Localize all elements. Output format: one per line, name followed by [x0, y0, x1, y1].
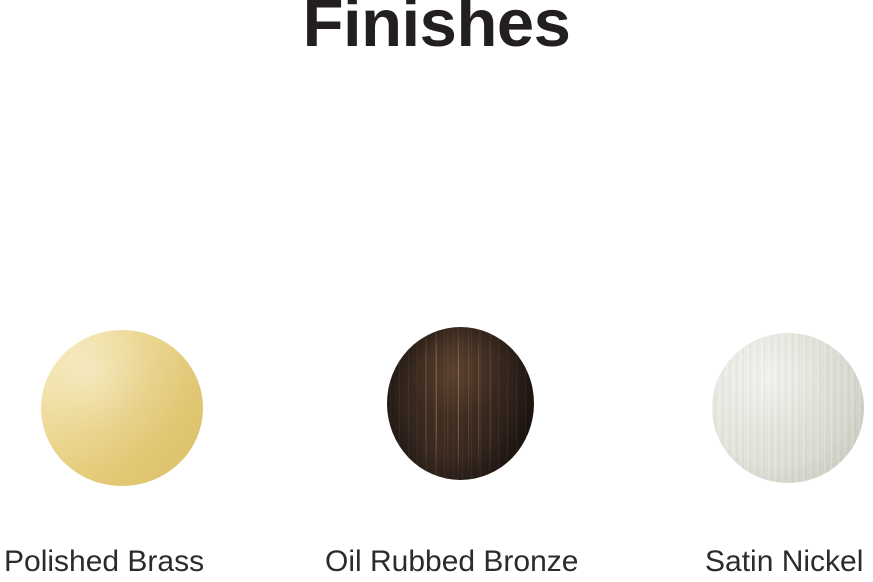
polished-brass-swatch-circle[interactable] — [41, 330, 203, 486]
page-title: Finishes — [0, 0, 873, 57]
bronze-edge-shading — [387, 327, 534, 480]
brass-sheen-overlay — [41, 330, 203, 486]
satin-nickel-swatch-circle[interactable] — [712, 333, 864, 483]
finishes-page: Finishes Polished Brass Oil Rubbed Bronz… — [0, 0, 873, 582]
polished-brass-label: Polished Brass — [4, 547, 204, 577]
satin-nickel-label: Satin Nickel — [705, 547, 863, 577]
oil-rubbed-bronze-label: Oil Rubbed Bronze — [325, 547, 578, 577]
nickel-edge-shading — [712, 333, 864, 483]
oil-rubbed-bronze-swatch-circle[interactable] — [387, 327, 534, 480]
